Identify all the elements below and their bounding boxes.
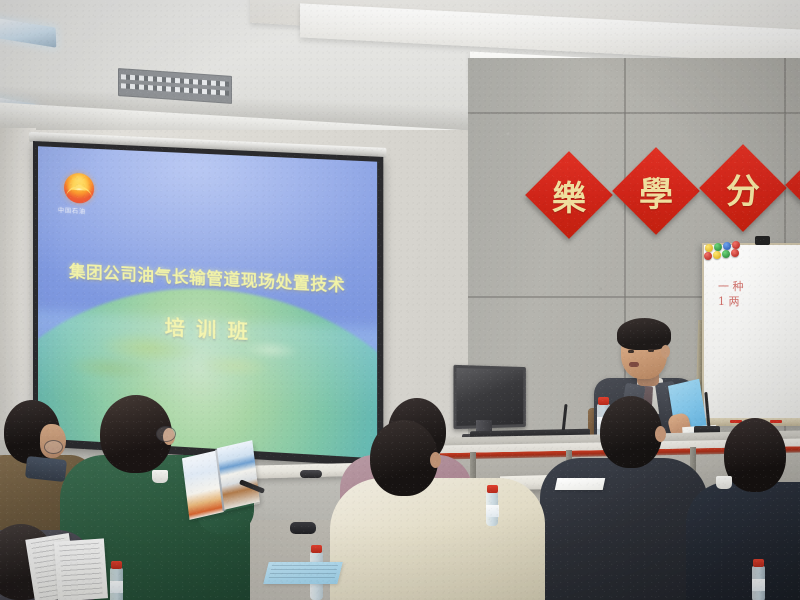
magnet-green-icon — [722, 250, 730, 258]
magnet-red-icon — [731, 249, 739, 257]
marker-red-icon — [770, 420, 782, 423]
bottle-cap — [311, 545, 322, 553]
eyeglasses-icon — [156, 426, 176, 442]
bottle-label — [486, 505, 499, 517]
water-bottle — [486, 492, 498, 526]
magnet-blue-icon — [723, 242, 731, 250]
water-bottle — [752, 566, 765, 600]
magnet-red-icon — [704, 252, 712, 260]
attendee-head — [370, 420, 438, 496]
brochure-page-right — [217, 440, 260, 510]
magnet-red-icon — [732, 241, 740, 249]
placard-glyph: 學 — [625, 160, 687, 222]
petrochina-logo-icon — [64, 172, 94, 203]
magnet-green-icon — [714, 243, 722, 251]
paper-cup — [152, 470, 168, 483]
magnet-yellow-icon — [713, 251, 721, 259]
presenter-ear — [661, 345, 670, 358]
placard-glyph: 樂 — [538, 164, 600, 226]
attendee-ear — [430, 452, 441, 468]
magnet-yellow-icon — [705, 244, 713, 252]
whiteboard-line-2: 1 两 — [718, 294, 800, 309]
bottle-cap — [487, 485, 498, 493]
printed-handout — [555, 478, 606, 490]
whiteboard: 一 种 1 两 — [702, 243, 800, 422]
photograph-scene: 樂 學 分 享 中国石油 集团公司油气长输管道现场处置技术 培训班 — [0, 0, 800, 600]
attendee-head — [600, 396, 662, 468]
wall-placard: 分 — [699, 144, 787, 232]
presenter-eye — [648, 349, 654, 352]
desk-object-dark — [300, 470, 322, 478]
whiteboard-clip — [755, 236, 770, 245]
attendee-head — [724, 418, 786, 492]
placard-glyph: 分 — [712, 157, 774, 219]
bottle-cap — [753, 559, 764, 567]
bottle-label — [110, 581, 123, 593]
wall-placard: 樂 — [525, 151, 613, 239]
attendee-dark-suit-right — [686, 482, 800, 600]
attendee-ear — [655, 426, 666, 442]
wall-placard: 學 — [612, 147, 700, 235]
whiteboard-writing: 一 种 1 两 — [718, 279, 800, 319]
printed-handout — [54, 538, 108, 600]
attendee-cream-jacket — [330, 478, 545, 600]
presenter-mouth — [629, 362, 639, 367]
whiteboard-line-1: 一 种 — [718, 279, 800, 294]
bottle-label — [752, 579, 765, 591]
eyeglasses-icon — [44, 440, 63, 454]
projection-screen: 中国石油 集团公司油气长输管道现场处置技术 培训班 — [33, 141, 383, 467]
presenter-eye — [628, 350, 634, 353]
water-bottle — [110, 568, 123, 600]
blue-handout — [263, 562, 342, 584]
desk-object-dark — [290, 522, 316, 534]
bottle-cap — [598, 397, 609, 405]
bottle-cap — [111, 561, 122, 569]
stone-seam — [468, 112, 800, 114]
attendee-collar — [25, 456, 67, 482]
paper-cup — [716, 476, 732, 489]
projected-slide: 中国石油 集团公司油气长输管道现场处置技术 培训班 — [38, 146, 377, 458]
